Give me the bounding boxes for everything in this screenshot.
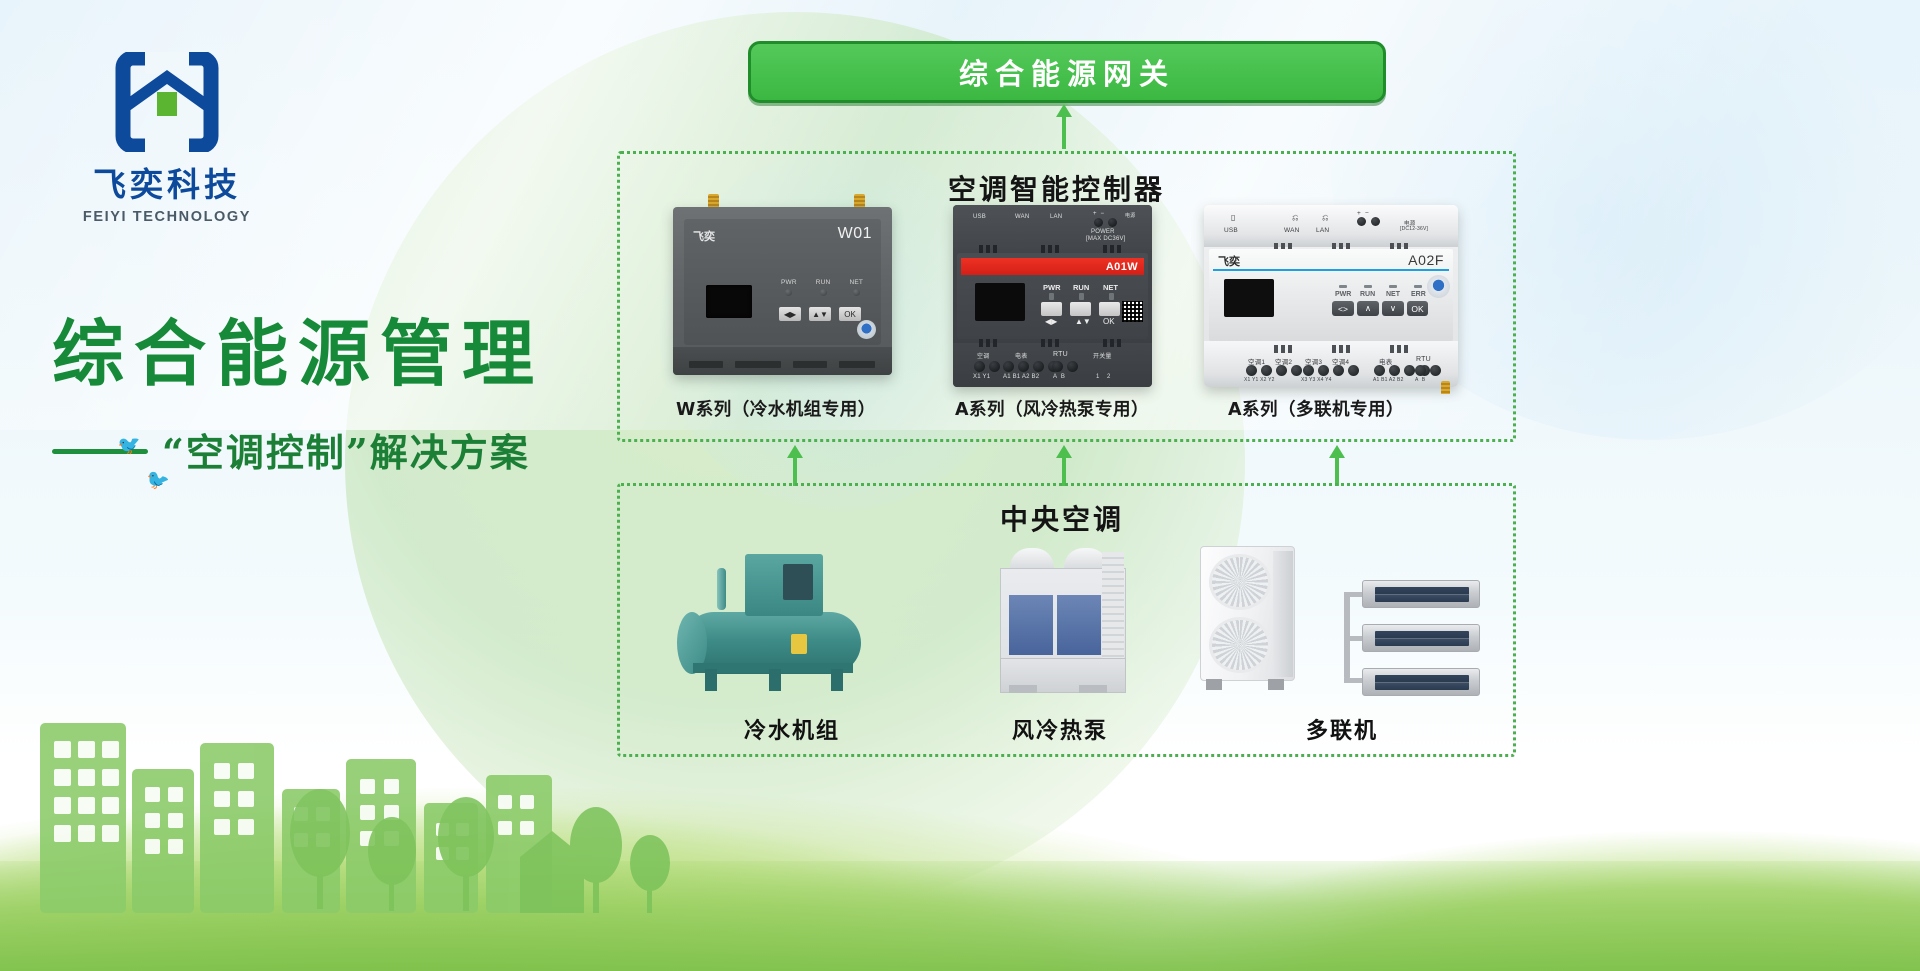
pin-row [1274,345,1292,353]
button-ok[interactable]: OK [839,307,861,321]
power-label-cn: 电源 [1125,212,1135,219]
device-caption-a-series-vrf: A系列（多联机专用） [1228,396,1404,421]
port-label-wan: WAN [1015,214,1029,220]
pin-row [1041,339,1059,347]
led-bulb [1389,285,1397,288]
button-up-down[interactable]: ▲▼ [809,307,831,321]
water-chiller-icon [683,546,878,691]
flow-arrow-heatpump-to-controller [1056,445,1072,486]
led-bulb [1364,285,1372,288]
poster-canvas: 飞奕科技 FEIYI TECHNOLOGY 综合能源管理 “空调控制”解决方案 … [0,0,1920,971]
led-bulb [1339,285,1347,288]
vrf-indoor-units-icon [1330,580,1480,700]
button-left-right[interactable]: <> [1332,301,1354,316]
terminal-group-label-rtu: RTU [1053,351,1068,358]
device-top-rail [953,205,1152,249]
house-monogram-logo-icon [115,52,219,152]
terminal-block [735,361,781,368]
gateway-banner[interactable]: 综合能源网关 [748,41,1386,103]
city-skyline-illustration [0,583,700,913]
terminal-block [793,361,827,368]
pin-label-x1y1: X1 Y1 [973,374,990,380]
page-subtitle: “空调控制”解决方案 [162,422,530,477]
port-label-usb: USB [973,214,986,220]
device-brand-label: 飞奕 [1218,253,1240,269]
port-label-wan: WAN [1284,227,1300,234]
led-label-err: ERR [1411,291,1426,298]
terminal-row-rtu [1052,361,1078,372]
flow-arrow-vrf-to-controller [1329,445,1345,486]
flow-arrow-chiller-to-controller [787,445,803,486]
terminal-row-rtu [1415,365,1441,376]
pin-label-ac34: X3 Y3 X4 Y4 [1301,377,1332,383]
led-label: NET [849,279,863,286]
terminal-block [839,361,875,368]
gateway-label: 综合能源网关 [959,51,1175,93]
device-a02f[interactable]: ▯ ⎌ ⎌ USB WAN LAN + − 电源 [DC12-36V] 飞奕 A… [1204,205,1458,387]
headline-block: 综合能源管理 “空调控制”解决方案 [52,318,672,477]
button-up[interactable]: ∧ [1357,301,1379,316]
terminal-row-meter [1003,361,1059,372]
network-icon: ⎌ [1292,213,1299,223]
terminal-group-label-rtu: RTU [1416,356,1431,363]
device-model-label: A02F [1408,252,1444,268]
led-label-net: NET [1386,291,1400,298]
qr-code-badge-icon [1427,275,1450,298]
terminal-group-label-di: 开关量 [1093,351,1112,360]
hvac-section-title: 中央空调 [1000,498,1124,538]
led-pwr: PWR [781,279,797,296]
device-lcd-screen [706,285,752,318]
network-icon: ⎌ [1322,213,1329,223]
logo-company-name-en: FEIYI TECHNOLOGY [72,209,262,225]
device-model-label: W01 [838,225,872,243]
port-label-lan: LAN [1050,214,1062,220]
pin-row [979,245,997,253]
led-bulb [853,289,860,296]
button-label-ok: OK [1103,317,1115,326]
qr-code-icon [1122,301,1143,322]
led-label: RUN [816,279,831,286]
power-terminals [1094,218,1117,227]
vrf-outdoor-unit-icon [1200,546,1295,694]
pin-row [1390,345,1408,353]
led-label: PWR [781,279,797,286]
button-left-right[interactable] [1041,302,1062,316]
device-lcd-screen [975,283,1025,321]
power-polarity-plus: + − [1093,211,1104,217]
pin-row [1103,245,1121,253]
usb-icon: ▯ [1231,213,1236,222]
company-logo: 飞奕科技 FEIYI TECHNOLOGY [72,52,262,225]
device-led-group: PWR RUN NET [781,279,863,296]
air-source-heat-pump-icon [1000,548,1126,693]
led-label-net: NET [1103,283,1118,292]
led-bulb [820,289,827,296]
device-a01w[interactable]: USB WAN LAN + − 电源 POWER [MAX DC36V] A01… [953,205,1152,387]
pin-label-meter: A1 B1 A2 B2 [1003,374,1039,380]
power-spec-label: [DC12-36V] [1400,226,1428,232]
led-label-run: RUN [1073,283,1089,292]
device-w01[interactable]: 飞奕 W01 PWR RUN NET ◀▶ ▲▼ OK [673,207,892,375]
pin-row [979,339,997,347]
pin-row [1103,339,1121,347]
pin-label-ac12: X1 Y1 X2 Y2 [1244,377,1275,383]
terminal-group-label-ac: 空调 [977,351,989,360]
pin-label-di: 1 2 [1096,374,1111,380]
led-label-pwr: PWR [1043,283,1061,292]
device-caption-a-series-heatpump: A系列（风冷热泵专用） [955,396,1149,421]
pin-label-meter: A1 B1 A2 B2 [1373,377,1404,383]
button-down[interactable]: ∨ [1382,301,1404,316]
antenna-icon [1441,381,1450,394]
button-label-up-down: ▲▼ [1075,317,1091,326]
terminal-block [689,361,723,368]
terminal-group-label-meter: 电表 [1015,351,1027,360]
led-bulb [785,289,792,296]
power-terminals [1357,217,1380,226]
button-ok[interactable]: OK [1407,301,1428,316]
device-button-group: ◀▶ ▲▼ OK [779,307,861,321]
page-title: 综合能源管理 [52,318,672,390]
device-lcd-screen [1224,279,1274,317]
pin-row [1332,345,1350,353]
device-accent-line [1213,269,1449,271]
button-label-left-right: ◀▶ [1045,317,1057,326]
terminal-row-ac12 [1246,365,1302,376]
bird-icon: 🐦 [145,470,172,493]
led-bulb [1109,293,1114,300]
port-label-usb: USB [1224,227,1238,234]
power-label: POWER [1091,229,1115,235]
pin-row [1041,245,1059,253]
led-net: NET [849,279,863,296]
controller-section-title: 空调智能控制器 [948,168,1165,208]
button-left-right[interactable]: ◀▶ [779,307,801,321]
power-spec-label: [MAX DC36V] [1086,236,1126,242]
led-bulb [1079,293,1084,300]
terminal-row-ac34 [1303,365,1359,376]
device-model-banner: A01W [961,258,1144,275]
button-up-down[interactable] [1070,302,1091,316]
button-ok[interactable] [1099,302,1120,316]
device-caption-w-series: W系列（冷水机组专用） [676,396,876,421]
hvac-label-heat-pump: 风冷热泵 [1012,713,1108,745]
device-brand-label: 飞奕 [693,228,715,244]
led-bulb [1049,293,1054,300]
flow-arrow-to-gateway [1056,104,1072,149]
port-label-lan: LAN [1316,227,1329,234]
pin-label-rtu: A B [1053,374,1065,380]
power-polarity: + − [1357,210,1369,217]
logo-company-name-cn: 飞奕科技 [72,158,262,206]
led-label-pwr: PWR [1335,291,1351,298]
pin-label-rtu: A B [1415,377,1425,383]
hvac-label-vrf: 多联机 [1306,713,1378,745]
qr-code-badge-icon [857,320,876,339]
hvac-label-chiller: 冷水机组 [744,713,840,745]
led-label-run: RUN [1360,291,1375,298]
led-run: RUN [816,279,831,296]
device-model-label: A01W [1106,261,1138,273]
led-bulb [1414,285,1422,288]
terminal-row-ac [974,361,1000,372]
